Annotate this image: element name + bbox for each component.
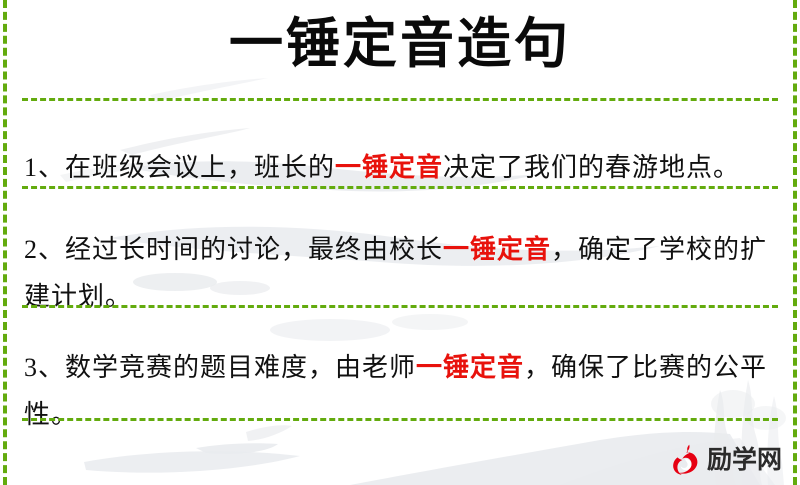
divider-rule-3 bbox=[22, 305, 778, 308]
sentence-3-idiom: 一锤定音 bbox=[416, 353, 524, 382]
site-logo-text: 励学网 bbox=[707, 448, 782, 473]
frame-border-left bbox=[3, 0, 7, 485]
page-title: 一锤定音造句 bbox=[0, 8, 800, 80]
sentence-3-prefix: 3、数学竞赛的题目难度，由老师 bbox=[24, 353, 416, 382]
divider-rule-4 bbox=[22, 418, 778, 421]
content-area: 一锤定音造句 1、在班级会议上，班长的一锤定音决定了我们的春游地点。 2、经过长… bbox=[0, 0, 800, 485]
example-sentence-3: 3、数学竞赛的题目难度，由老师一锤定音，确保了比赛的公平性。 bbox=[24, 344, 776, 438]
divider-rule-1 bbox=[22, 98, 778, 101]
sentence-1-idiom: 一锤定音 bbox=[335, 153, 443, 182]
slide-page: 一锤定音造句 1、在班级会议上，班长的一锤定音决定了我们的春游地点。 2、经过长… bbox=[0, 0, 800, 485]
sentence-1-prefix: 1、在班级会议上，班长的 bbox=[24, 153, 335, 182]
example-sentence-1: 1、在班级会议上，班长的一锤定音决定了我们的春游地点。 bbox=[24, 144, 776, 191]
divider-rule-2 bbox=[22, 186, 778, 189]
sentence-1-suffix: 决定了我们的春游地点。 bbox=[443, 153, 740, 182]
site-logo[interactable]: 励学网 bbox=[669, 443, 782, 477]
frame-border-right bbox=[793, 0, 797, 485]
sentence-2-idiom: 一锤定音 bbox=[443, 235, 551, 264]
sentence-2-prefix: 2、经过长时间的讨论，最终由校长 bbox=[24, 235, 443, 264]
red-swirl-flame-icon bbox=[669, 443, 703, 477]
